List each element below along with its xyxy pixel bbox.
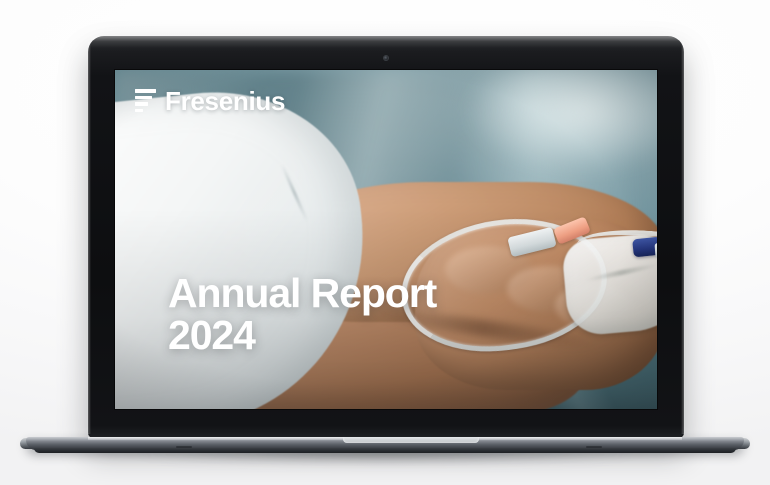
webcam-dot-icon [384, 56, 388, 60]
brand-lockup: Fresenius [135, 88, 285, 114]
laptop-lid: Fresenius Annual Report 2024 [88, 36, 684, 438]
base-foot [176, 446, 192, 448]
laptop-screen[interactable]: Fresenius Annual Report 2024 [115, 70, 657, 409]
trackpad-notch [343, 437, 479, 443]
fresenius-bars-icon [135, 89, 156, 113]
brand-name: Fresenius [165, 88, 285, 114]
slide-overlay: Fresenius Annual Report 2024 [115, 70, 657, 409]
lid-left-highlight [88, 42, 91, 434]
base-front-edge [34, 448, 736, 453]
base-body [26, 437, 744, 450]
laptop-base [26, 437, 744, 455]
page-background: Fresenius Annual Report 2024 [0, 0, 770, 485]
base-foot [586, 446, 602, 448]
page-title: Annual Report 2024 [168, 272, 436, 357]
lid-right-highlight [681, 42, 684, 434]
laptop-mockup: Fresenius Annual Report 2024 [0, 0, 770, 485]
page-title-line-1: Annual Report [168, 270, 436, 316]
page-title-line-2: 2024 [168, 314, 436, 357]
lid-top-highlight [88, 36, 684, 48]
